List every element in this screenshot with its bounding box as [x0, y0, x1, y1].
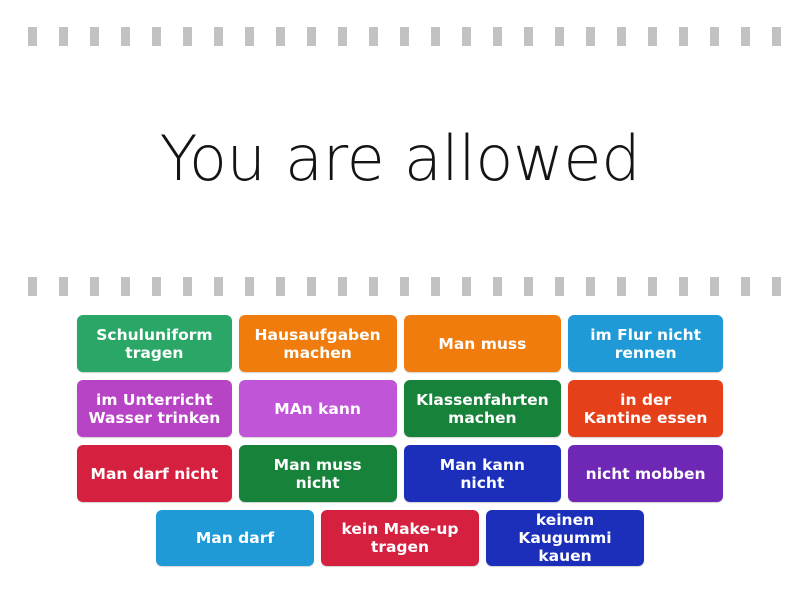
separator-dash — [586, 277, 595, 296]
tile-row: Schuluniform tragenHausaufgaben machenMa… — [77, 315, 723, 372]
separator-dash — [59, 27, 68, 46]
separator-dash — [710, 27, 719, 46]
separator-dash — [90, 27, 99, 46]
answer-tile[interactable]: Hausaufgaben machen — [239, 315, 397, 372]
separator-dash — [214, 27, 223, 46]
separator-dash — [493, 277, 502, 296]
separator-dash — [462, 27, 471, 46]
dashed-separator-middle — [0, 276, 800, 296]
separator-dash — [648, 27, 657, 46]
separator-dash — [679, 277, 688, 296]
separator-dash — [245, 277, 254, 296]
answer-tile[interactable]: MAn kann — [239, 380, 397, 437]
separator-dash — [741, 27, 750, 46]
separator-dash — [400, 27, 409, 46]
separator-dash — [679, 27, 688, 46]
page-title: You are allowed — [0, 112, 800, 206]
separator-dash — [710, 277, 719, 296]
separator-dash — [431, 277, 440, 296]
answer-tile[interactable]: kein Make-up tragen — [321, 510, 479, 566]
tile-row: im Unterricht Wasser trinkenMAn kannKlas… — [77, 380, 723, 437]
separator-dash — [617, 27, 626, 46]
separator-dash — [369, 277, 378, 296]
separator-dash — [617, 277, 626, 296]
separator-dash — [431, 27, 440, 46]
separator-dash — [307, 277, 316, 296]
separator-dash — [90, 277, 99, 296]
separator-dash — [276, 277, 285, 296]
separator-dash — [183, 277, 192, 296]
separator-dash — [369, 27, 378, 46]
answer-tile[interactable]: Man darf nicht — [77, 445, 232, 502]
answer-tile[interactable]: Man kann nicht — [404, 445, 562, 502]
dashed-separator-top — [0, 26, 800, 46]
separator-dash — [307, 27, 316, 46]
separator-dash — [183, 27, 192, 46]
separator-dash — [586, 27, 595, 46]
separator-dash — [28, 27, 37, 46]
separator-dash — [555, 27, 564, 46]
separator-dash — [152, 27, 161, 46]
separator-dash — [152, 277, 161, 296]
answer-tile[interactable]: keinen Kaugummi kauen — [486, 510, 644, 566]
separator-dash — [772, 27, 781, 46]
separator-dash — [245, 27, 254, 46]
separator-dash — [524, 27, 533, 46]
answer-tile[interactable]: in der Kantine essen — [568, 380, 723, 437]
answer-tile[interactable]: im Unterricht Wasser trinken — [77, 380, 232, 437]
answer-tile[interactable]: Man darf — [156, 510, 314, 566]
activity-stage: You are allowed Schuluniform tragenHausa… — [0, 0, 800, 600]
separator-dash — [524, 277, 533, 296]
separator-dash — [555, 277, 564, 296]
separator-dash — [276, 27, 285, 46]
separator-dash — [338, 27, 347, 46]
answer-tile[interactable]: Man muss — [404, 315, 562, 372]
separator-dash — [648, 277, 657, 296]
tile-board: Schuluniform tragenHausaufgaben machenMa… — [77, 315, 723, 566]
tile-row: Man darfkein Make-up tragenkeinen Kaugum… — [77, 510, 723, 566]
separator-dash — [400, 277, 409, 296]
answer-tile[interactable]: nicht mobben — [568, 445, 723, 502]
separator-dash — [338, 277, 347, 296]
answer-tile[interactable]: Schuluniform tragen — [77, 315, 232, 372]
separator-dash — [493, 27, 502, 46]
tile-row: Man darf nichtMan muss nichtMan kann nic… — [77, 445, 723, 502]
separator-dash — [28, 277, 37, 296]
answer-tile[interactable]: Klassenfahrten machen — [404, 380, 562, 437]
answer-tile[interactable]: Man muss nicht — [239, 445, 397, 502]
separator-dash — [462, 277, 471, 296]
separator-dash — [741, 277, 750, 296]
answer-tile[interactable]: im Flur nicht rennen — [568, 315, 723, 372]
separator-dash — [121, 27, 130, 46]
separator-dash — [772, 277, 781, 296]
separator-dash — [214, 277, 223, 296]
separator-dash — [121, 277, 130, 296]
separator-dash — [59, 277, 68, 296]
